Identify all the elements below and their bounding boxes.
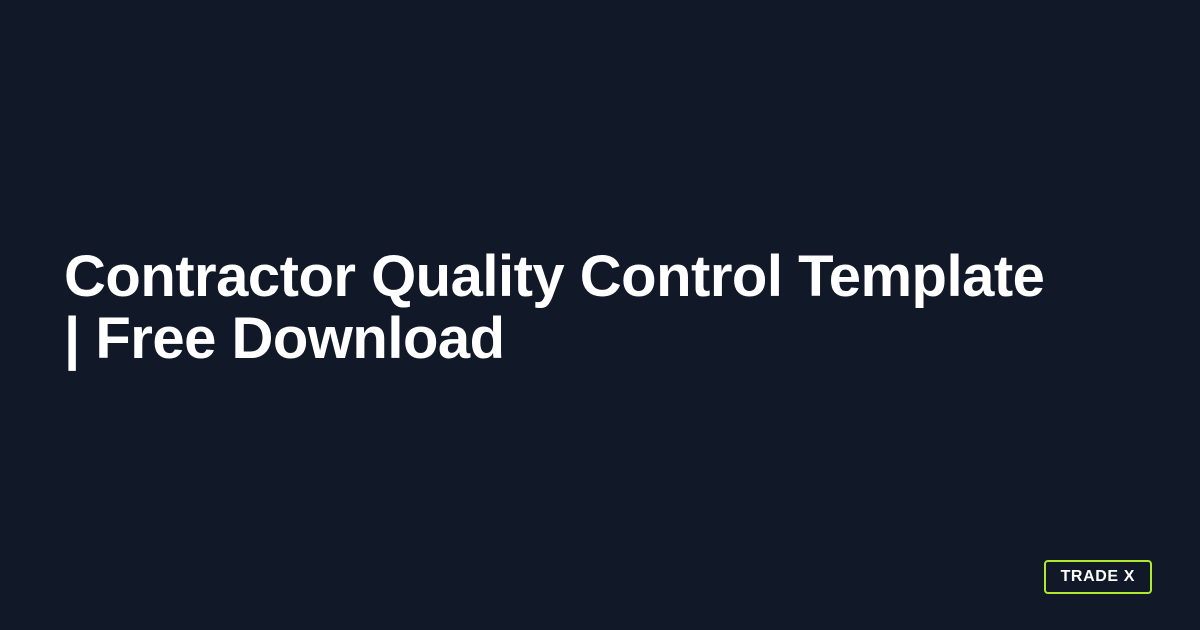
headline-block: Contractor Quality Control Template | Fr… <box>64 246 1064 370</box>
page-title: Contractor Quality Control Template | Fr… <box>64 246 1064 370</box>
brand-badge: TRADE X <box>1044 560 1152 594</box>
brand-badge-label: TRADE X <box>1061 569 1135 585</box>
og-share-card: Contractor Quality Control Template | Fr… <box>0 0 1200 630</box>
